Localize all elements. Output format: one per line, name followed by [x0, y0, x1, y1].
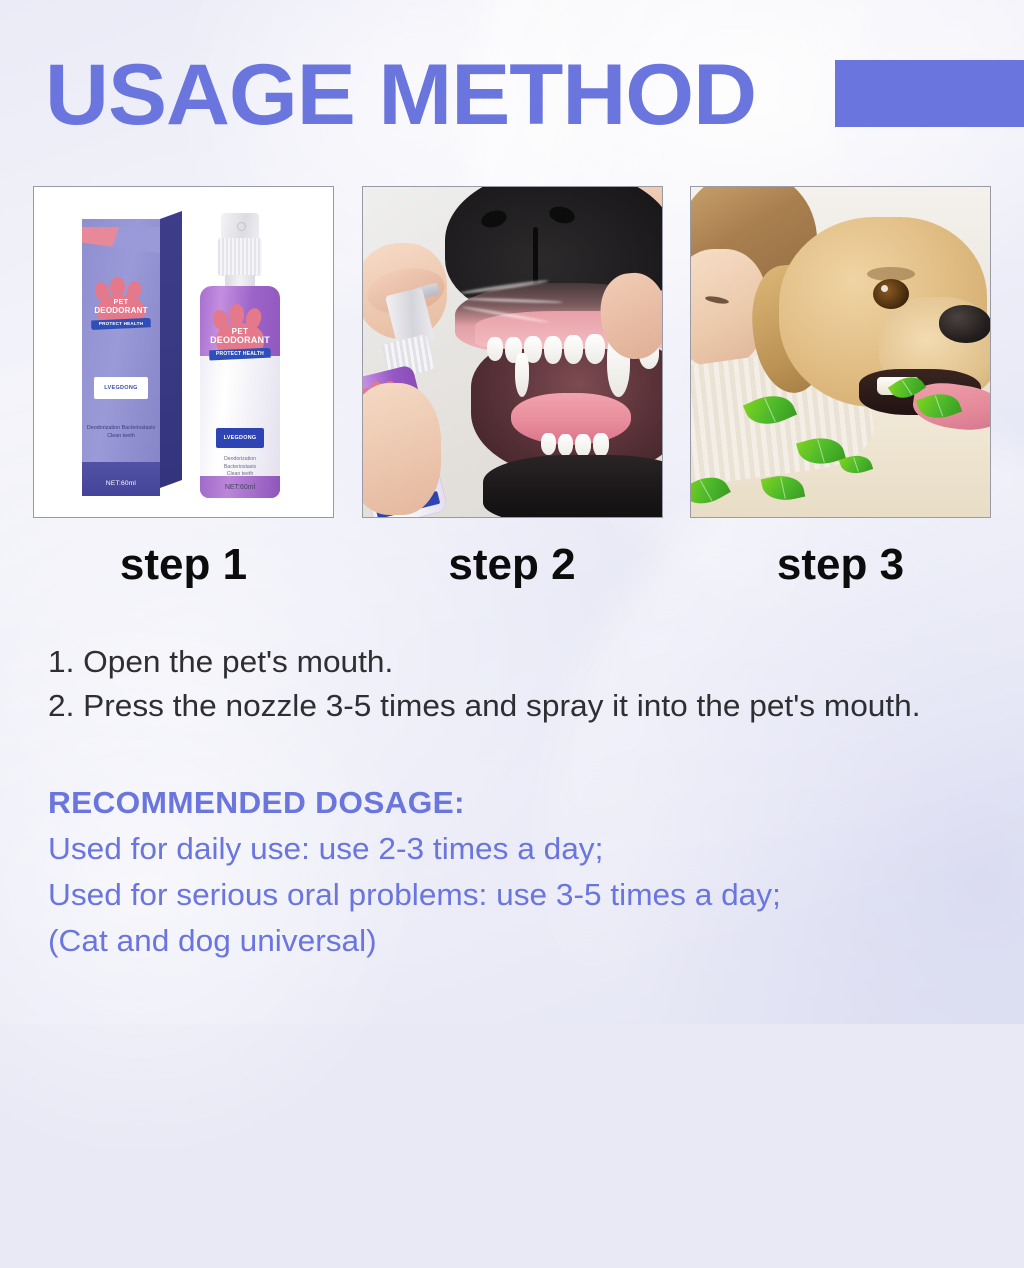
dosage-line-1: Used for daily use: use 2-3 times a day;	[48, 826, 1024, 872]
dog-tooth	[487, 337, 503, 361]
infographic-page: USAGE METHOD PET DEODORANT PROTECT HEALT…	[0, 0, 1024, 1024]
bottle-collar	[218, 238, 262, 276]
dog-lower-tooth	[593, 433, 609, 457]
step-label-3: step 3	[690, 536, 991, 598]
instructions-block: 1. Open the pet's mouth. 2. Press the no…	[48, 640, 1008, 728]
step-label-2: step 2	[362, 536, 663, 598]
step-3-image-panel	[690, 186, 991, 518]
hand-lower-grip	[362, 383, 441, 515]
dog-lower-jaw	[483, 455, 663, 518]
product-logo-line1: PET	[90, 299, 152, 306]
dog-eye	[873, 279, 909, 309]
instruction-line-1: 1. Open the pet's mouth.	[48, 640, 1024, 684]
desc-line-3: Clean teeth	[206, 471, 274, 479]
product-box-side	[160, 211, 182, 488]
page-title: USAGE METHOD	[45, 43, 756, 147]
desc-line-1: Deodorization Bacteriostasis	[86, 424, 156, 432]
dosage-line-3: (Cat and dog universal)	[48, 918, 1024, 964]
product-box-top-accent	[82, 227, 160, 253]
dog-lower-tooth	[558, 434, 573, 456]
desc-line-2: Bacteriostasis	[206, 464, 274, 472]
bottle-cap	[221, 213, 259, 239]
product-logo-line2: DEODORANT	[90, 306, 152, 315]
brand-name: LVEGDONG	[224, 435, 257, 441]
bottle-net-volume: NET:60ml	[206, 484, 274, 491]
header: USAGE METHOD	[0, 40, 1024, 150]
step-image-row: PET DEODORANT PROTECT HEALTH LVEGDONG De…	[33, 186, 991, 518]
bottle-body: PET DEODORANT PROTECT HEALTH LVEGDONG De…	[200, 286, 280, 498]
product-box-description: Deodorization Bacteriostasis Clean teeth	[86, 424, 156, 440]
dosage-block: RECOMMENDED DOSAGE: Used for daily use: …	[48, 780, 1008, 964]
brand-name: LVEGDONG	[104, 385, 137, 391]
dog-tooth	[564, 335, 583, 364]
bottle-logo-line2: DEODORANT	[208, 335, 272, 345]
product-box-base	[82, 462, 160, 496]
dog-lower-tooth	[575, 434, 591, 457]
product-ribbon-text: PROTECT HEALTH	[99, 321, 143, 326]
bottle-ribbon-text: PROTECT HEALTH	[216, 351, 264, 357]
dog-tooth	[544, 336, 562, 364]
step-label-row: step 1 step 2 step 3	[33, 536, 991, 598]
spray-bottle: PET DEODORANT PROTECT HEALTH LVEGDONG De…	[194, 213, 286, 498]
product-box-front: PET DEODORANT PROTECT HEALTH LVEGDONG De…	[82, 219, 160, 496]
step-1-image-panel: PET DEODORANT PROTECT HEALTH LVEGDONG De…	[33, 186, 334, 518]
title-accent-bar	[835, 60, 1024, 127]
paw-logo-icon: PET DEODORANT PROTECT HEALTH	[208, 300, 272, 368]
dog-canine-fang	[515, 353, 529, 397]
bottle-brand-logo: LVEGDONG	[216, 428, 264, 448]
dog-lower-tooth	[541, 433, 556, 455]
dosage-line-2: Used for serious oral problems: use 3-5 …	[48, 872, 1024, 918]
bottle-description: Deodorization Bacteriostasis Clean teeth	[206, 456, 274, 479]
step-label-1: step 1	[33, 536, 334, 598]
desc-line-1: Deodorization	[206, 456, 274, 464]
dog-nose	[939, 305, 991, 343]
instruction-line-2: 2. Press the nozzle 3-5 times and spray …	[48, 684, 1024, 728]
brand-logo: LVEGDONG	[94, 377, 148, 399]
product-box: PET DEODORANT PROTECT HEALTH LVEGDONG De…	[82, 211, 182, 496]
dog-nose-septum	[533, 227, 538, 289]
product-box-net-volume: NET:60ml	[82, 480, 160, 487]
paw-logo-icon: PET DEODORANT PROTECT HEALTH	[90, 273, 152, 337]
dog-tooth	[585, 334, 605, 364]
desc-line-2: Clean teeth	[86, 432, 156, 440]
dosage-title: RECOMMENDED DOSAGE:	[48, 780, 1024, 826]
step-2-image-panel: DEODORANT PROTECT HEALTH LVEGDONG	[362, 186, 663, 518]
